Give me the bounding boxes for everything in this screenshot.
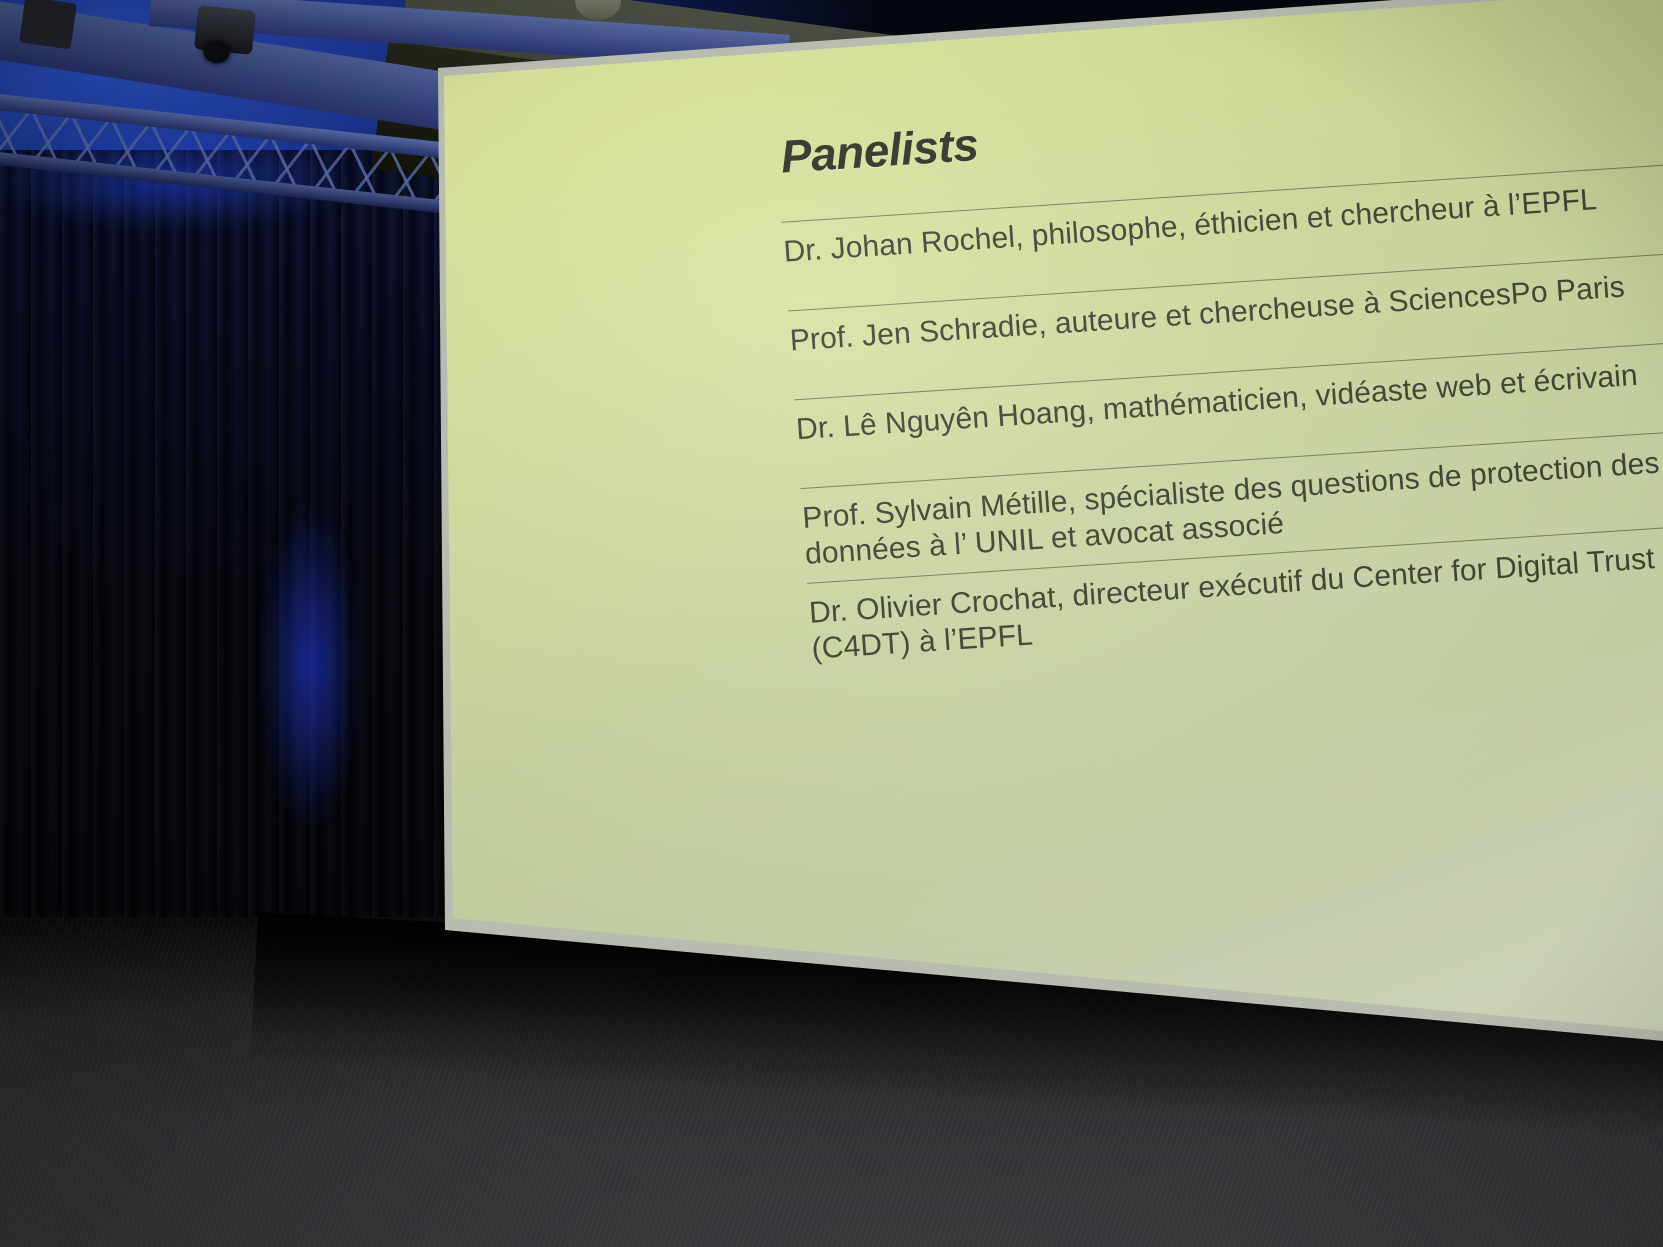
photo-scene: Panelists Dr. Johan Rochel, philosophe, …: [0, 0, 1663, 1247]
spotlight-icon: [194, 5, 256, 55]
projection-screen: Panelists Dr. Johan Rochel, philosophe, …: [345, 0, 1663, 1060]
panelist-text: Dr. Lê Nguyên Hoang, mathématicien, vidé…: [795, 343, 1663, 449]
stage-light-icon: [19, 0, 77, 49]
presentation-slide: Panelists Dr. Johan Rochel, philosophe, …: [775, 60, 1663, 828]
panelist-text: Prof. Jen Schradie, auteure et chercheus…: [789, 254, 1663, 360]
panelist-text: Dr. Johan Rochel, philosophe, éthicien e…: [782, 165, 1663, 271]
